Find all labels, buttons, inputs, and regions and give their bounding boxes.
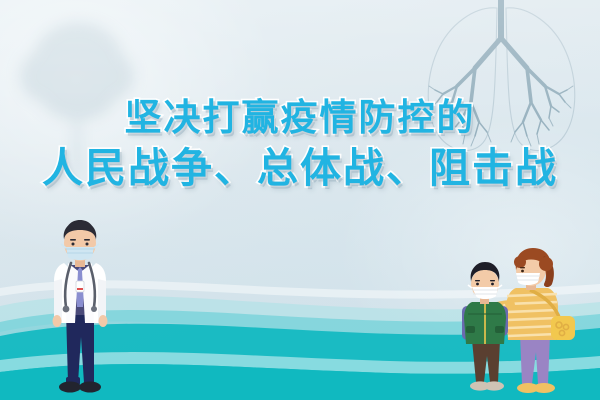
poster-canvas: 坚决打赢疫情防控的 人民战争、总体战、阻击战 (0, 0, 600, 400)
masked-family-illustration (458, 248, 588, 400)
tree-silhouette-icon (6, 8, 156, 183)
masked-doctor-illustration (28, 215, 132, 400)
headline-line-2: 人民战争、总体战、阻击战 (0, 144, 600, 192)
headline-line-1: 坚决打赢疫情防控的 (0, 96, 600, 140)
page-title: 坚决打赢疫情防控的 人民战争、总体战、阻击战 (0, 96, 600, 192)
lungs-illustration-icon (409, 0, 594, 165)
